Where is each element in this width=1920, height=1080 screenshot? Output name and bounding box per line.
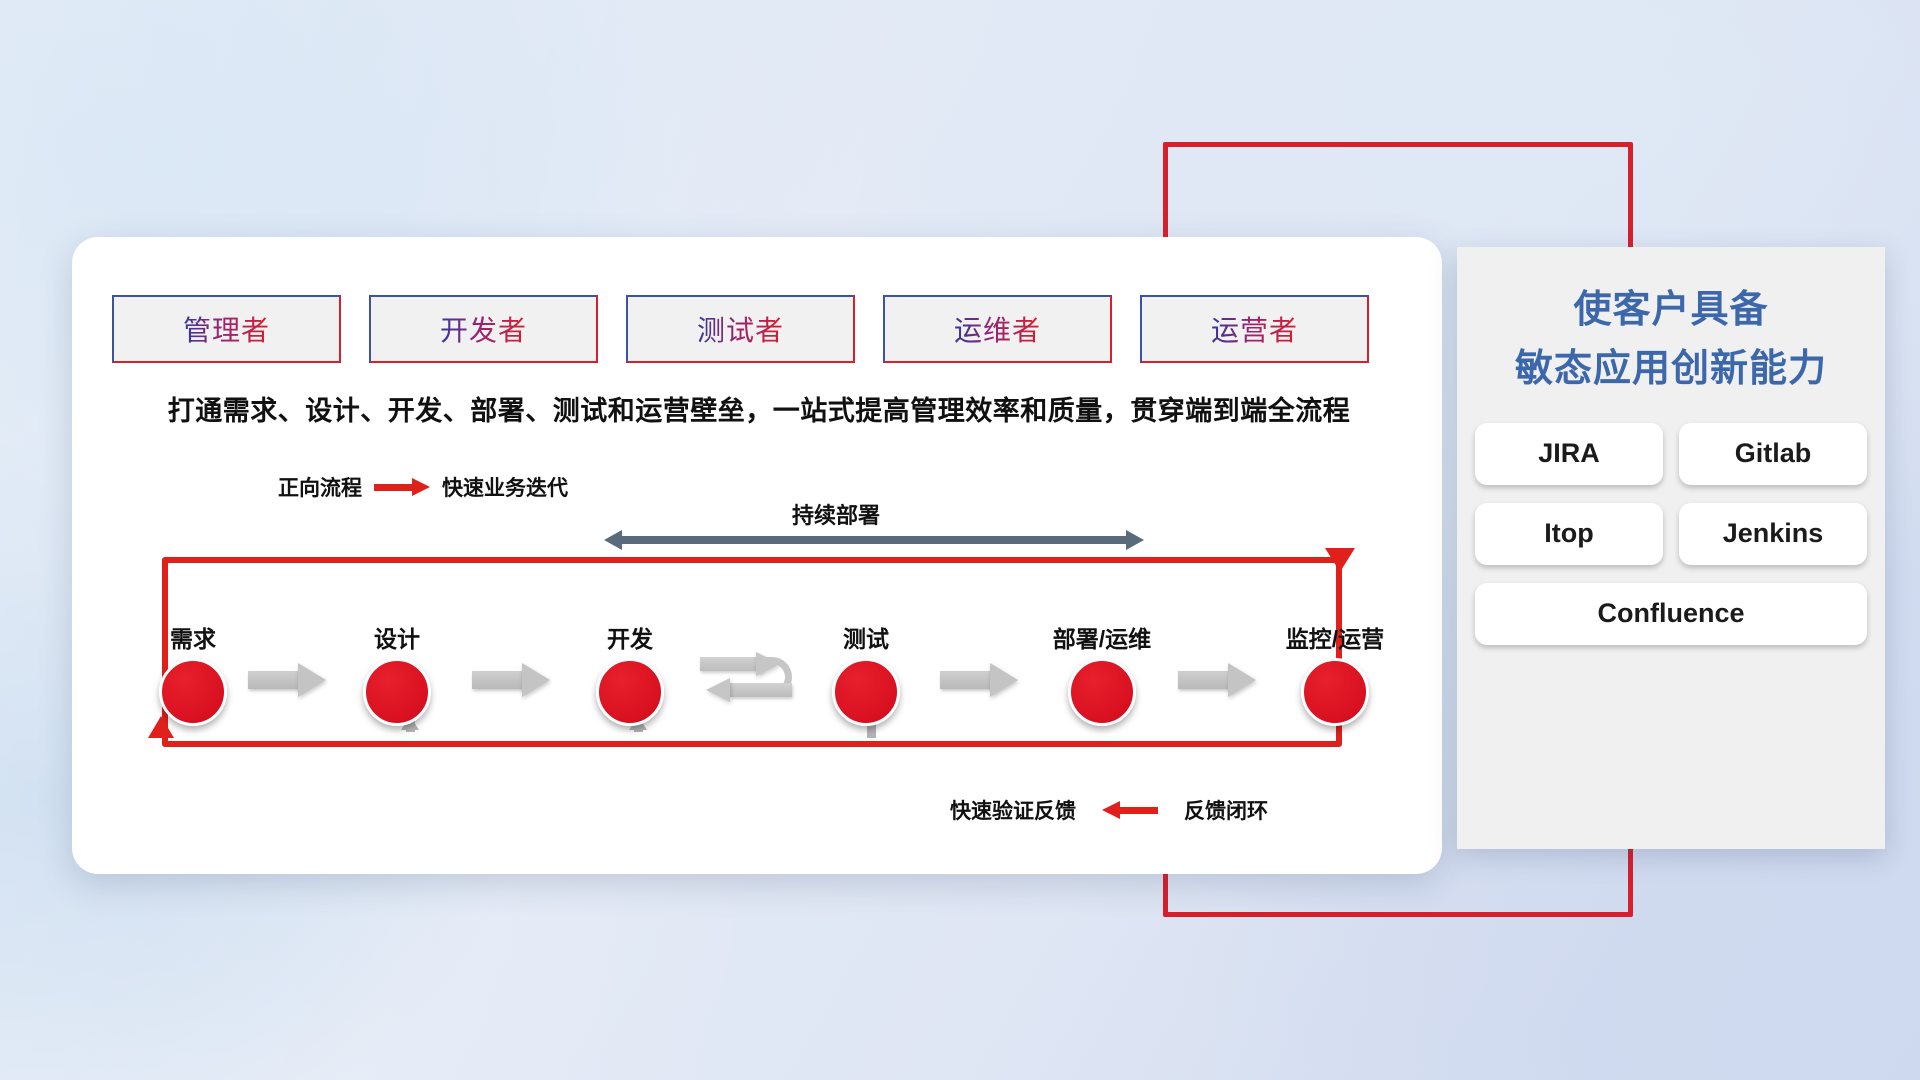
stage-node-circle [159,658,227,726]
stage-node-circle [1301,658,1369,726]
legend-feedback-right-label: 反馈闭环 [1184,795,1268,825]
stage-label: 设计 [337,620,457,654]
flow-arrow-gray-icon [940,663,1018,697]
dev-test-loop-arrow-icon [700,655,792,713]
tool-item-itop[interactable]: Itop [1475,503,1663,565]
stage-requirement[interactable]: 需求 [133,620,253,726]
stage-node-circle [1068,658,1136,726]
stage-design[interactable]: 设计 [337,620,457,726]
tool-grid: JIRA Gitlab Itop Jenkins Confluence [1475,423,1867,645]
flow-arrow-gray-icon [472,663,550,697]
panel-title-line1: 使客户具备 [1457,281,1885,340]
stage-label: 测试 [806,620,926,654]
tool-item-jenkins[interactable]: Jenkins [1679,503,1867,565]
stage-label: 开发 [570,620,690,654]
stage-deploy-ops[interactable]: 部署/运维 [1042,620,1162,726]
flow-arrow-gray-icon [1178,663,1256,697]
stage-node-circle [363,658,431,726]
stage-node-circle [832,658,900,726]
panel-title-line2: 敏态应用创新能力 [1457,340,1885,399]
legend-feedback-left-label: 快速验证反馈 [950,795,1076,825]
panel-title: 使客户具备 敏态应用创新能力 [1457,281,1885,399]
capability-panel: 使客户具备 敏态应用创新能力 JIRA Gitlab Itop Jenkins … [1457,247,1885,849]
tool-item-jira[interactable]: JIRA [1475,423,1663,485]
tool-item-confluence[interactable]: Confluence [1475,583,1867,645]
stage-monitor-operations[interactable]: 监控/运营 [1275,620,1395,726]
stage-label: 监控/运营 [1275,620,1395,654]
stage-testing[interactable]: 测试 [806,620,926,726]
stage-label: 部署/运维 [1042,620,1162,654]
tool-item-gitlab[interactable]: Gitlab [1679,423,1867,485]
stage-node-circle [596,658,664,726]
flow-arrow-gray-icon [248,663,326,697]
stage-label: 需求 [133,620,253,654]
arrow-left-red-icon [1102,804,1158,816]
legend-feedback-loop: 快速验证反馈 反馈闭环 [950,795,1268,825]
stage-development[interactable]: 开发 [570,620,690,726]
